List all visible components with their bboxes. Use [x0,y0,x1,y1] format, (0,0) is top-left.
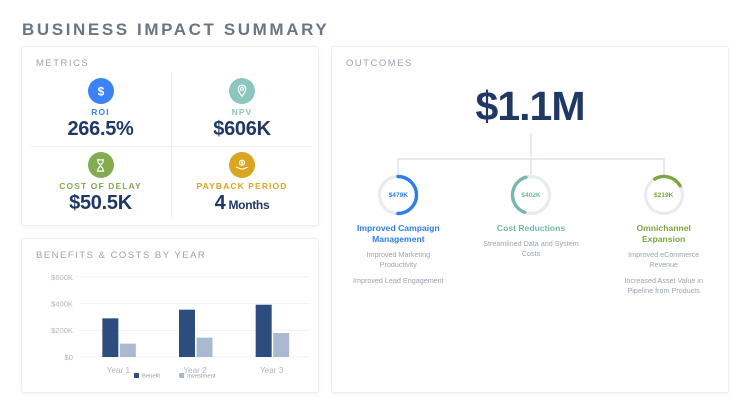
business-impact-summary-page: BUSINESS IMPACT SUMMARY METRICS $ ROI 26… [0,0,750,414]
outcomes-branches: $479KImproved Campaign ManagementImprove… [332,173,730,296]
outcome-branch-3[interactable]: $219KOmnichannel ExpansionImproved eComm… [597,173,730,296]
dollar-circle-icon: $ [88,78,114,104]
bar-investment-2 [197,338,213,357]
outcome-branch-item: Improved Lead Engagement [348,276,448,286]
outcome-branch-title: Improved Campaign Management [352,223,444,245]
metric-name: COST OF DELAY [59,181,141,191]
hourglass-icon [88,152,114,178]
metric-name: PAYBACK PERIOD [197,181,288,191]
y-axis-tick-label: $600K [51,273,73,282]
metrics-grid: $ ROI 266.5% NPV $606K [30,73,312,219]
y-axis-tick-label: $200K [51,326,73,335]
outcome-donut-chart: $219K [642,173,686,217]
metric-value: 4Months [215,192,270,215]
outcome-branch-item: Improved eCommerce Revenue [614,250,714,270]
outcomes-total-value: $1.1M [332,83,728,130]
outcome-branch-2[interactable]: $402KCost ReductionsStreamlined Data and… [465,173,598,296]
outcome-branch-items: Improved eCommerce RevenueIncreased Asse… [614,250,714,296]
outcome-branch-item: Increased Asset Value in Pipeline from P… [614,276,714,296]
metrics-card-label: METRICS [36,58,89,69]
metric-name: ROI [91,107,109,117]
bar-chart-svg: $0$200K$400K$600KYear 1Year 2Year 3Benef… [22,269,320,394]
x-axis-category-label: Year 1 [107,366,131,375]
metric-value-number: 4 [215,192,226,214]
metric-name: NPV [232,107,253,117]
bar-investment-1 [120,344,136,357]
page-title: BUSINESS IMPACT SUMMARY [22,20,329,40]
outcome-branch-title: Omnichannel Expansion [618,223,710,245]
outcome-branch-items: Streamlined Data and System Costs [481,239,581,259]
metrics-card: METRICS $ ROI 266.5% NPV $606K [21,46,319,226]
outcomes-card: OUTCOMES $1.1M $479KImproved Campaign Ma… [331,46,729,393]
hand-coin-icon [229,152,255,178]
outcome-branch-title: Cost Reductions [497,223,565,234]
donut-amount-label: $219K [642,173,686,217]
metric-value: $606K [213,118,270,141]
legend-swatch [134,373,139,378]
metric-npv: NPV $606K [171,73,312,146]
donut-amount-label: $402K [509,173,553,217]
legend-label: Investment [187,374,216,380]
map-pin-icon [229,78,255,104]
benefits-card-label: BENEFITS & COSTS BY YEAR [36,250,206,261]
outcome-branch-items: Improved Marketing ProductivityImproved … [348,250,448,286]
outcome-branch-1[interactable]: $479KImproved Campaign ManagementImprove… [332,173,465,296]
metric-value: $50.5K [69,192,132,215]
svg-text:$: $ [97,84,104,98]
outcome-branch-item: Streamlined Data and System Costs [481,239,581,259]
metric-value-unit: Months [228,198,269,212]
benefits-bar-chart: $0$200K$400K$600KYear 1Year 2Year 3Benef… [22,269,320,394]
metric-cost-of-delay: COST OF DELAY $50.5K [30,146,171,219]
x-axis-category-label: Year 3 [260,366,284,375]
bar-benefit-2 [179,310,195,357]
bar-benefit-3 [256,305,272,357]
y-axis-tick-label: $400K [51,299,73,308]
legend-swatch [179,373,184,378]
bar-investment-3 [273,333,289,357]
outcome-donut-chart: $479K [376,173,420,217]
legend-label: Benefit [142,374,160,380]
metric-value: 266.5% [67,118,133,141]
outcomes-card-label: OUTCOMES [346,58,413,69]
y-axis-tick-label: $0 [65,353,73,362]
outcomes-tree-connector [332,133,730,177]
benefits-costs-card: BENEFITS & COSTS BY YEAR $0$200K$400K$60… [21,238,319,393]
outcome-branch-item: Improved Marketing Productivity [348,250,448,270]
donut-amount-label: $479K [376,173,420,217]
outcome-donut-chart: $402K [509,173,553,217]
bar-benefit-1 [102,318,118,357]
metric-roi: $ ROI 266.5% [30,73,171,146]
metric-payback-period: PAYBACK PERIOD 4Months [171,146,312,219]
